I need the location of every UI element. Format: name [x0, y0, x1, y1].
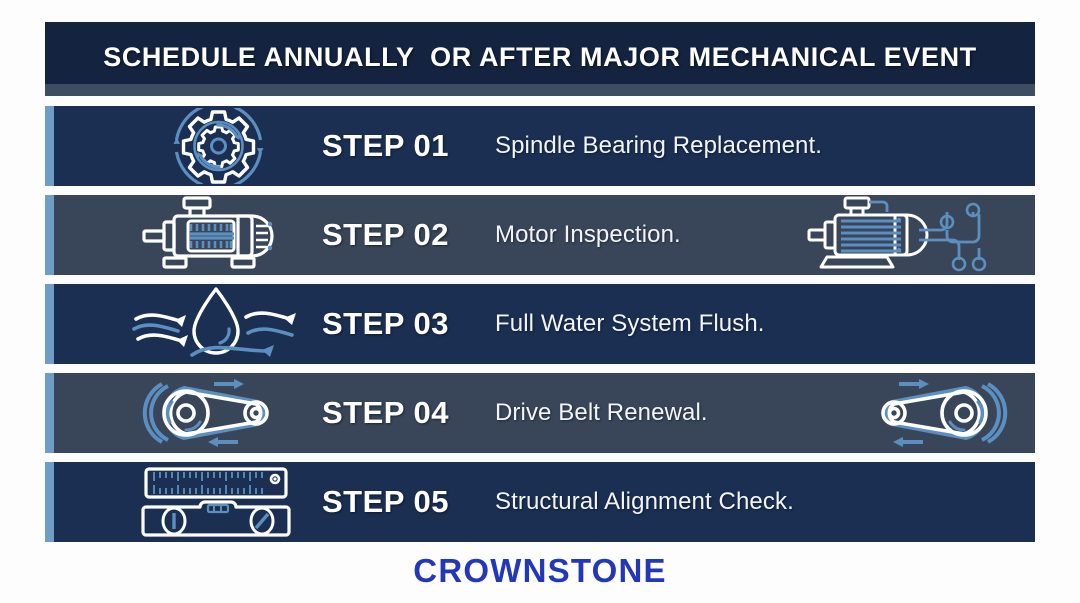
step-label: STEP 04 — [322, 395, 449, 431]
brand-logo: CROWNSTONE — [0, 552, 1080, 590]
row-accent-bar — [45, 195, 54, 275]
step-description: Motor Inspection. — [495, 221, 681, 249]
row-accent-bar — [45, 373, 54, 453]
step-label: STEP 03 — [322, 306, 449, 342]
header-underbar — [45, 84, 1035, 96]
step-description: Full Water System Flush. — [495, 310, 765, 338]
row-accent-bar — [45, 106, 54, 186]
electric-motor-icon — [123, 196, 313, 274]
belt-pulley-icon — [123, 374, 313, 452]
belt-pulley-mirrored-icon — [802, 374, 1027, 452]
step-row-1[interactable]: STEP 01 Spindle Bearing Replacement. — [45, 106, 1035, 186]
gear-rotation-icon — [123, 107, 313, 185]
step-row-5[interactable]: STEP 05 Structural Alignment Check. — [45, 462, 1035, 542]
step-row-2[interactable]: STEP 02 Motor Inspection. — [45, 195, 1035, 275]
step-label: STEP 01 — [322, 128, 449, 164]
step-description: Drive Belt Renewal. — [495, 399, 708, 427]
step-label: STEP 02 — [322, 217, 449, 253]
step-label: STEP 05 — [322, 484, 449, 520]
infographic-canvas: SCHEDULE ANNUALLY OR AFTER MAJOR MECHANI… — [0, 0, 1080, 603]
row-accent-bar — [45, 462, 54, 542]
step-description: Spindle Bearing Replacement. — [495, 132, 822, 160]
step-row-3[interactable]: STEP 03 Full Water System Flush. — [45, 284, 1035, 364]
ruler-spirit-level-icon — [123, 463, 313, 541]
step-description: Structural Alignment Check. — [495, 488, 794, 516]
step-row-4[interactable]: STEP 04 Drive Belt Renewal. — [45, 373, 1035, 453]
motor-wiring-icon — [802, 196, 1027, 274]
row-accent-bar — [45, 284, 54, 364]
water-drop-flow-icon — [123, 285, 313, 363]
